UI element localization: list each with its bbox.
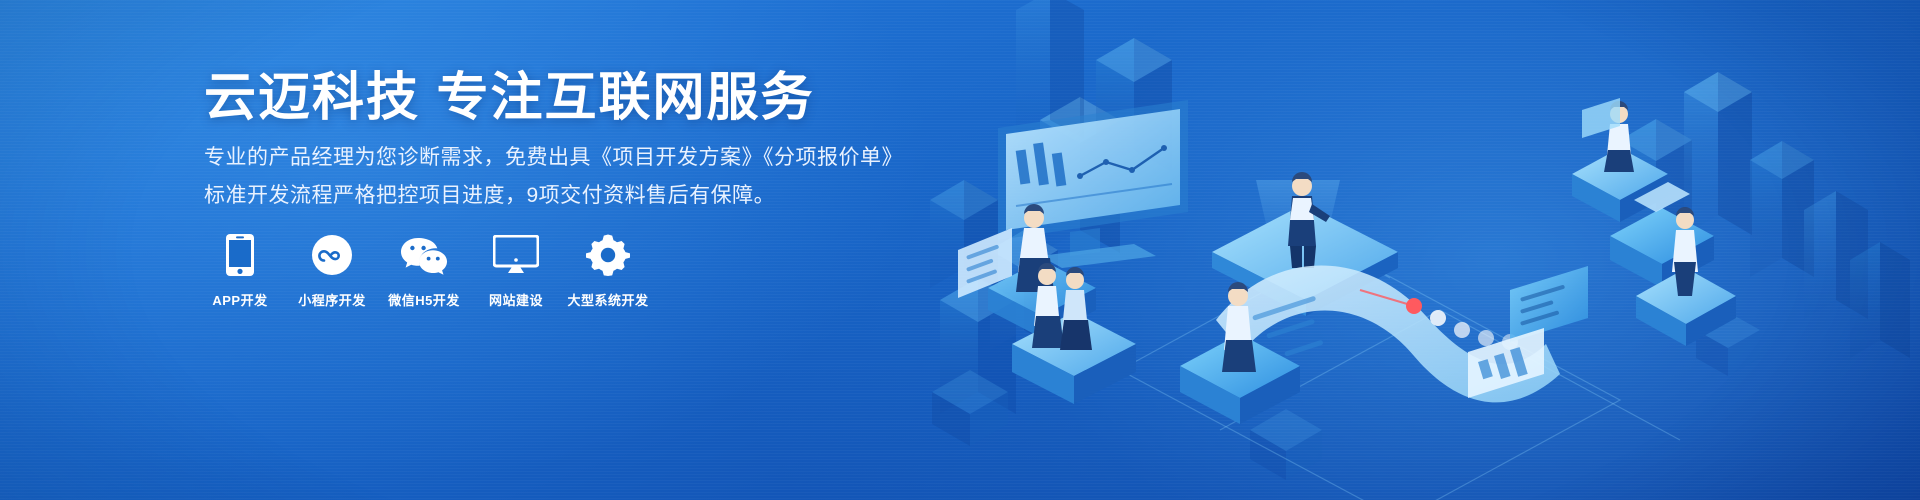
mobile-phone-icon (225, 232, 255, 278)
service-label-app: APP开发 (212, 290, 267, 309)
monitor-icon (493, 232, 539, 278)
service-item-app[interactable]: APP开发 (204, 232, 276, 309)
service-label-wechat-h5: 微信H5开发 (388, 290, 460, 309)
service-item-website[interactable]: 网站建设 (480, 232, 552, 309)
subtitle-line-2: 标准开发流程严格把控项目进度，9项交付资料售后有保障。 (204, 185, 775, 206)
subtitle-line-1: 专业的产品经理为您诊断需求，免费出具《项目开发方案》《分项报价单》 (204, 147, 903, 168)
service-item-miniprogram[interactable]: 小程序开发 (296, 232, 368, 309)
banner-content: 云迈科技 专注互联网服务 专业的产品经理为您诊断需求，免费出具《项目开发方案》《… (204, 0, 964, 500)
service-item-large-system[interactable]: 大型系统开发 (572, 232, 644, 309)
page-title: 云迈科技 专注互联网服务 (204, 72, 814, 124)
floating-panel-small (1510, 266, 1588, 342)
hero-banner: 云迈科技 专注互联网服务 专业的产品经理为您诊断需求，免费出具《项目开发方案》《… (0, 0, 1920, 500)
illustration-isometric-scene (920, 0, 1920, 500)
service-label-website: 网站建设 (489, 290, 543, 309)
mini-program-icon (311, 232, 353, 278)
service-list: APP开发 小程序开发 (204, 232, 664, 309)
gear-icon (586, 232, 630, 278)
service-label-miniprogram: 小程序开发 (298, 290, 366, 309)
service-label-large-system: 大型系统开发 (568, 290, 649, 309)
wechat-icon (400, 232, 448, 278)
service-item-wechat-h5[interactable]: 微信H5开发 (388, 232, 460, 309)
